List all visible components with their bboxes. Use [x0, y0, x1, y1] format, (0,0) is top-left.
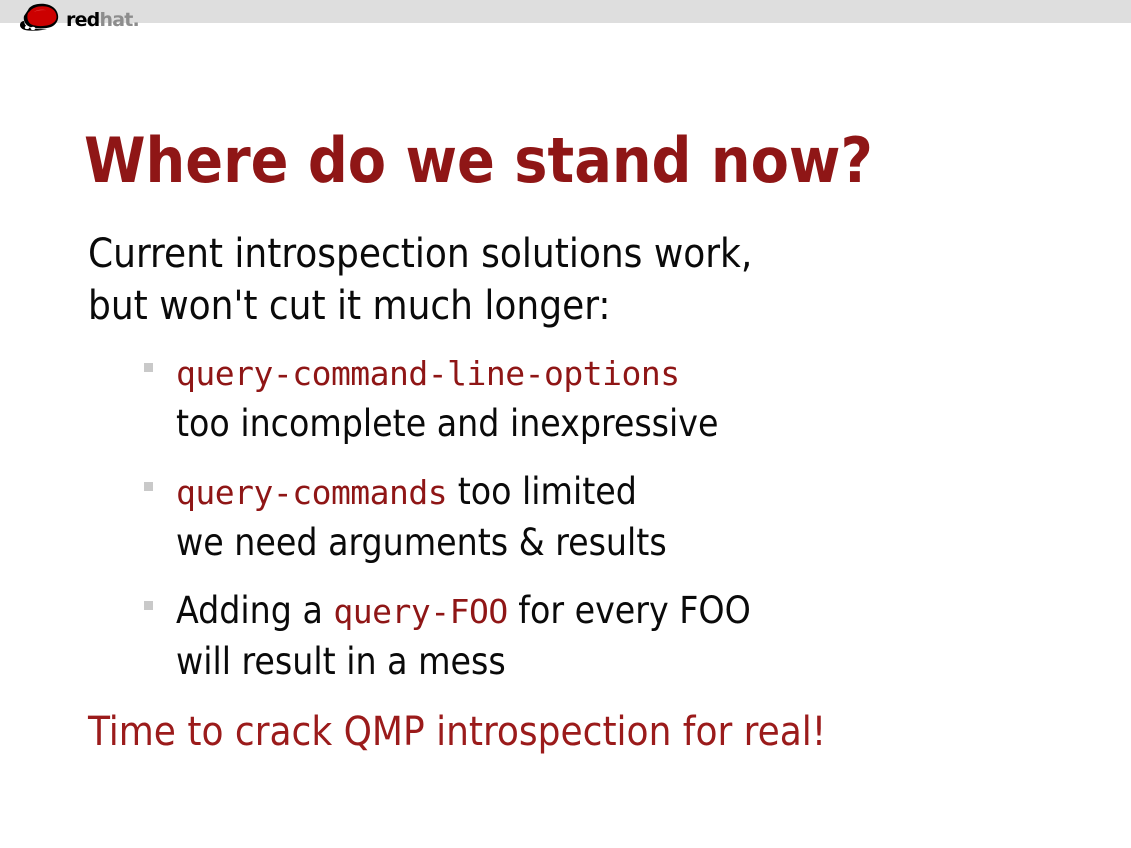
- code-token: query-command-line-options: [176, 354, 680, 393]
- logo-word-dot: .: [133, 9, 139, 31]
- bullet-3-line-1: Adding a query-FOO for every FOO: [176, 586, 1040, 637]
- brand-bar: [0, 0, 1131, 23]
- redhat-wordmark: redhat.: [66, 11, 139, 30]
- list-item: Adding a query-FOO for every FOO will re…: [140, 586, 1040, 687]
- logo-word-hat: hat: [99, 9, 132, 31]
- bullet-3-line-1-text: for every FOO: [508, 589, 751, 632]
- list-item: query-command-line-options too incomplet…: [140, 348, 1040, 449]
- square-bullet-icon: [144, 482, 153, 491]
- code-token: query-commands: [176, 473, 447, 512]
- bullet-2-line-2: we need arguments & results: [176, 518, 1040, 568]
- bullet-3-line-2: will result in a mess: [176, 637, 1040, 687]
- redhat-logo: redhat.: [18, 1, 168, 37]
- bullet-1-line-2: too incomplete and inexpressive: [176, 399, 1040, 449]
- slide-root: redhat. Where do we stand now? Current i…: [0, 0, 1131, 848]
- intro-line-2: but won't cut it much longer:: [88, 280, 752, 332]
- intro-paragraph: Current introspection solutions work, bu…: [88, 228, 752, 332]
- bullet-2-line-1: query-commands too limited: [176, 467, 1040, 518]
- logo-word-red: red: [66, 9, 99, 31]
- square-bullet-icon: [144, 363, 153, 372]
- bullet-list: query-command-line-options too incomplet…: [140, 348, 1040, 705]
- code-token: query-FOO: [333, 592, 507, 631]
- square-bullet-icon: [144, 601, 153, 610]
- bullet-3-line-1-prefix: Adding a: [176, 589, 333, 632]
- intro-line-1: Current introspection solutions work,: [88, 228, 752, 280]
- bullet-2-line-1-text: too limited: [447, 470, 637, 513]
- list-item: query-commands too limited we need argum…: [140, 467, 1040, 568]
- closing-statement: Time to crack QMP introspection for real…: [88, 707, 826, 757]
- bullet-1-line-1: query-command-line-options: [176, 348, 1040, 399]
- redhat-shadowman-icon: [18, 3, 64, 33]
- slide-title: Where do we stand now?: [84, 126, 873, 196]
